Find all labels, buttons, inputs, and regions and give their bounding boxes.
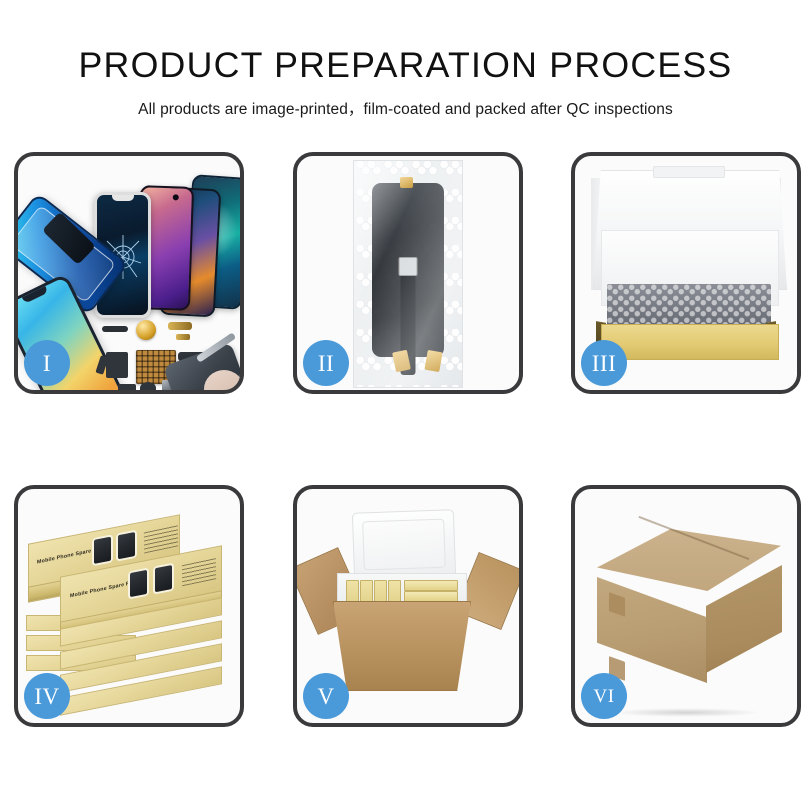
step-badge-3: III [581, 340, 627, 386]
step-panel-3[interactable]: III [571, 152, 801, 394]
page-subtitle: All products are image-printed，film-coat… [0, 83, 811, 119]
foam-lid-icon [352, 509, 456, 581]
step-badge-2: II [303, 340, 349, 386]
box-lid-tab-icon [653, 166, 725, 178]
step-badge-6: VI [581, 673, 627, 719]
step-4-illustration: Mobile Phone Spare Parts Mobile Phone Sp… [18, 489, 240, 723]
page-title: PRODUCT PREPARATION PROCESS [0, 0, 811, 83]
gold-contact-icon [400, 177, 413, 188]
phone-notch-icon [22, 286, 48, 304]
step-3-illustration: III [575, 156, 797, 390]
step-6-illustration: VI [575, 489, 797, 723]
box-window-screen-icon [155, 565, 172, 592]
header: PRODUCT PREPARATION PROCESS All products… [0, 0, 811, 119]
speaker-module-icon [140, 382, 156, 394]
gold-connector-icon [168, 322, 192, 330]
gold-contact-icon [424, 350, 442, 372]
step-badge-1: I [24, 340, 70, 386]
bubble-wrap-layer-icon [607, 284, 771, 326]
connector-icon [399, 257, 418, 276]
step-panel-4[interactable]: Mobile Phone Spare Parts Mobile Phone Sp… [14, 485, 244, 727]
carton-shadow [611, 708, 761, 717]
kraft-box-base-icon [601, 324, 779, 360]
box-window-screen-icon [130, 570, 147, 597]
step-panel-2[interactable]: II [293, 152, 523, 394]
box-window-screen-icon [118, 532, 135, 559]
step-badge-4: IV [24, 673, 70, 719]
product-preparation-infographic: PRODUCT PREPARATION PROCESS All products… [0, 0, 811, 811]
phone-notch-icon [112, 195, 134, 201]
bubble-wrap-bag-icon [353, 160, 463, 388]
step-2-illustration: II [297, 156, 519, 390]
earpiece-speaker-icon [102, 326, 128, 332]
retail-box-inside [404, 580, 458, 591]
flex-cable-icon [106, 352, 128, 378]
box-window-screen-icon [94, 537, 111, 564]
retail-box-inside [404, 591, 458, 602]
step-badge-5: V [303, 673, 349, 719]
step-1-illustration: I [18, 156, 240, 390]
gold-contact-icon [176, 334, 190, 340]
camera-lens-icon [222, 390, 244, 394]
step-panel-5[interactable]: V [293, 485, 523, 727]
step-panel-6[interactable]: VI [571, 485, 801, 727]
step-5-illustration: V [297, 489, 519, 723]
steps-grid: I II [14, 152, 802, 797]
connector-icon [118, 384, 136, 394]
step-panel-1[interactable]: I [14, 152, 244, 394]
carton-body-icon [333, 601, 471, 691]
vibrator-motor-icon [136, 320, 156, 340]
